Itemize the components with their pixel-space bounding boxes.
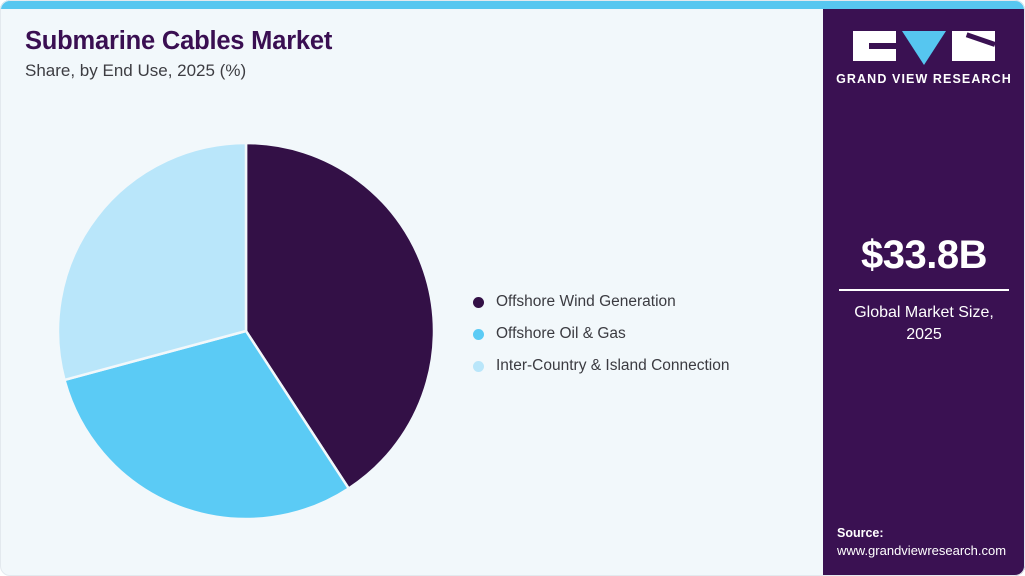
stat-divider [839, 289, 1009, 291]
source-url[interactable]: www.grandviewresearch.com [837, 542, 1025, 560]
logo-marks [823, 31, 1025, 63]
legend-item-label: Offshore Wind Generation [496, 293, 676, 311]
source-label: Source: [837, 524, 1025, 542]
stat-caption: Global Market Size, 2025 [837, 302, 1011, 345]
logo-g-icon [853, 31, 896, 61]
title-block: Submarine Cables Market Share, by End Us… [25, 27, 725, 81]
chart-legend: Offshore Wind Generation Offshore Oil & … [473, 286, 813, 382]
pie-slice-group [58, 143, 434, 519]
logo-r-icon [952, 31, 995, 61]
legend-swatch-icon [473, 329, 484, 340]
legend-item-label: Offshore Oil & Gas [496, 325, 626, 343]
brand-name: GRAND VIEW RESEARCH [823, 72, 1025, 86]
top-accent-strip [0, 0, 1025, 9]
legend-swatch-icon [473, 297, 484, 308]
legend-item-label: Inter-Country & Island Connection [496, 357, 729, 375]
pie-chart [57, 142, 435, 520]
legend-item-offshore-oil-and-gas[interactable]: Offshore Oil & Gas [473, 318, 813, 350]
stat-value: $33.8B [837, 235, 1011, 275]
legend-item-offshore-wind-generation[interactable]: Offshore Wind Generation [473, 286, 813, 318]
logo-v-triangle-icon [902, 31, 946, 65]
page-title: Submarine Cables Market [25, 27, 725, 55]
brand-logo: GRAND VIEW RESEARCH [823, 31, 1025, 86]
source-block: Source: www.grandviewresearch.com [837, 524, 1025, 560]
chart-main-area: Submarine Cables Market Share, by End Us… [0, 9, 823, 576]
page-subtitle: Share, by End Use, 2025 (%) [25, 62, 725, 81]
brand-side-panel: GRAND VIEW RESEARCH $33.8B Global Market… [823, 9, 1025, 576]
legend-swatch-icon [473, 361, 484, 372]
pie-chart-svg [57, 142, 435, 520]
market-size-stat: $33.8B Global Market Size, 2025 [837, 235, 1011, 345]
infographic-card: Submarine Cables Market Share, by End Us… [0, 0, 1025, 576]
legend-item-inter-country-and-island-connection[interactable]: Inter-Country & Island Connection [473, 350, 813, 382]
